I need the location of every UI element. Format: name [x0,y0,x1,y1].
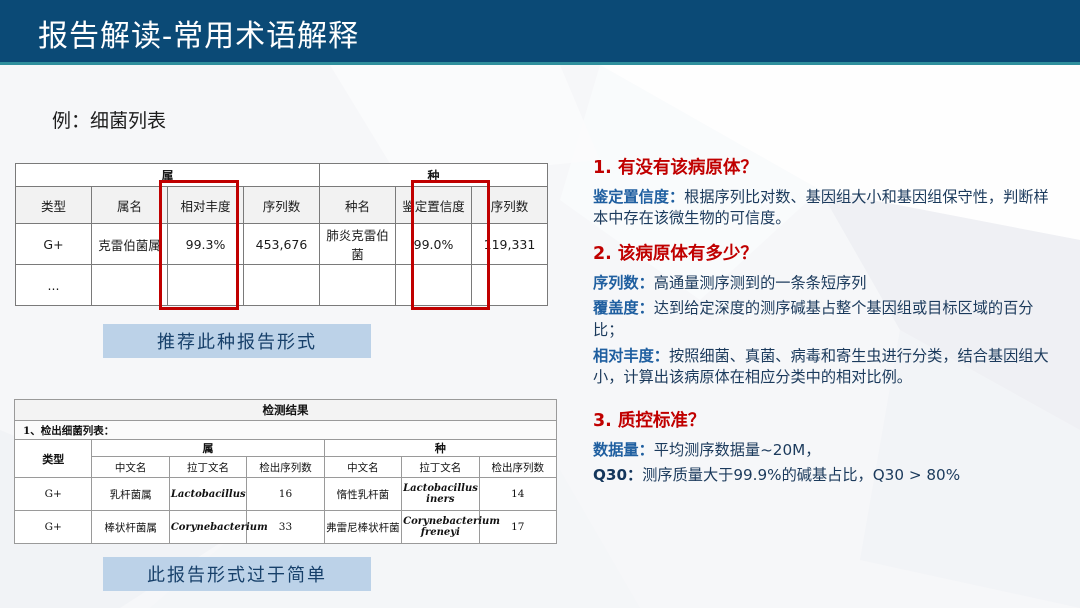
group-header-species: 种 [320,164,548,187]
col-header-genus-reads: 检出序列数 [247,457,324,478]
cell-type: G+ [15,478,92,511]
question-block-1: 1. 有没有该病原体？ 鉴定置信度：根据序列比对数、基因组大小和基因组保守性，判… [593,158,1063,230]
term-definition-confidence: 鉴定置信度：根据序列比对数、基因组大小和基因组保守性，判断样本中存在该微生物的可… [593,187,1063,230]
term-body: 测序质量大于99.9%的碱基占比，Q30 > 80% [642,466,960,484]
col-header-species-name: 种名 [320,187,396,224]
table-row: ... [16,265,548,306]
cell-species-cn: 弗雷尼棒状杆菌 [324,511,401,544]
term-definition-datavolume: 数据量：平均测序数据量~20M， [593,440,1063,462]
cell-reads-species: 119,331 [472,224,548,265]
report-table: 检测结果 1、检出细菌列表： 类型 属 种 中文名 拉丁文名 检出序列数 中文名… [14,399,557,544]
term-definition-reads: 序列数：高通量测序测到的一条条短序列 [593,273,1063,295]
term-label: 覆盖度： [593,299,654,317]
cell-genus-latin: Lactobacillus [169,478,246,511]
cell-type: G+ [15,511,92,544]
cell-genus-cn: 乳杆菌属 [92,478,169,511]
cell-reads-genus-empty [244,265,320,306]
cell-species-name-empty [320,265,396,306]
group-header-species: 种 [324,440,556,457]
report-table-container: 检测结果 1、检出细菌列表： 类型 属 种 中文名 拉丁文名 检出序列数 中文名… [14,399,557,544]
example-label: 例：细菌列表 [52,106,166,133]
table-row: G+ 棒状杆菌属 Corynebacterium 33 弗雷尼棒状杆菌 Cory… [15,511,557,544]
group-header-genus: 属 [16,164,320,187]
cell-species-cn: 惰性乳杆菌 [324,478,401,511]
col-header-reads-species: 序列数 [472,187,548,224]
title-accent-line [0,62,1080,65]
term-label: 序列数： [593,274,654,292]
cell-confidence-empty [396,265,472,306]
term-label: Q30： [593,466,642,484]
cell-abundance: 99.3% [168,224,244,265]
callout-too-simple: 此报告形式过于简单 [103,557,371,591]
question-block-3: 3. 质控标准？ 数据量：平均测序数据量~20M， Q30：测序质量大于99.9… [593,411,1063,487]
term-body: 达到给定深度的测序碱基占整个基因组或目标区域的百分比； [593,299,1033,339]
table-row-subtitle: 1、检出细菌列表： [15,421,557,440]
question-heading-3: 3. 质控标准？ [593,411,1063,433]
term-body: 平均测序数据量~20M， [654,441,821,459]
col-header-species-cn: 中文名 [324,457,401,478]
cell-species-latin: Lactobacillus iners [402,478,479,511]
example-table: 属 种 类型 属名 相对丰度 序列数 种名 鉴定置信度 序列数 G+ 克雷伯菌属… [15,163,548,306]
col-header-abundance: 相对丰度 [168,187,244,224]
table-row-groups: 属 种 [16,164,548,187]
cell-genus-latin: Corynebacterium [169,511,246,544]
table-row-header: 中文名 拉丁文名 检出序列数 中文名 拉丁文名 检出序列数 [15,457,557,478]
table-row: G+ 乳杆菌属 Lactobacillus 16 惰性乳杆菌 Lactobaci… [15,478,557,511]
report-table-title: 检测结果 [15,400,557,421]
cell-confidence: 99.0% [396,224,472,265]
table-row-header: 类型 属名 相对丰度 序列数 种名 鉴定置信度 序列数 [16,187,548,224]
term-definition-q30: Q30：测序质量大于99.9%的碱基占比，Q30 > 80% [593,465,1063,487]
question-block-2: 2. 该病原体有多少？ 序列数：高通量测序测到的一条条短序列 覆盖度：达到给定深… [593,244,1063,389]
cell-genus-cn: 棒状杆菌属 [92,511,169,544]
cell-abundance-empty [168,265,244,306]
term-label: 鉴定置信度： [593,188,684,206]
table-row: G+ 克雷伯菌属 99.3% 453,676 肺炎克雷伯菌 99.0% 119,… [16,224,548,265]
term-body: 高通量测序测到的一条条短序列 [654,274,867,292]
cell-species-reads: 14 [479,478,556,511]
col-header-type: 类型 [15,440,92,478]
table-row-groups: 类型 属 种 [15,440,557,457]
col-header-type: 类型 [16,187,92,224]
cell-type: G+ [16,224,92,265]
cell-genus-name: 克雷伯菌属 [92,224,168,265]
table-row-title: 检测结果 [15,400,557,421]
col-header-confidence: 鉴定置信度 [396,187,472,224]
question-heading-1: 1. 有没有该病原体？ [593,158,1063,180]
cell-genus-reads: 16 [247,478,324,511]
term-label: 数据量： [593,441,654,459]
col-header-genus-name: 属名 [92,187,168,224]
col-header-genus-latin: 拉丁文名 [169,457,246,478]
cell-species-name: 肺炎克雷伯菌 [320,224,396,265]
col-header-species-reads: 检出序列数 [479,457,556,478]
terminology-panel: 1. 有没有该病原体？ 鉴定置信度：根据序列比对数、基因组大小和基因组保守性，判… [593,158,1063,501]
example-table-container: 属 种 类型 属名 相对丰度 序列数 种名 鉴定置信度 序列数 G+ 克雷伯菌属… [15,163,548,306]
cell-reads-species-empty [472,265,548,306]
callout-recommend: 推荐此种报告形式 [103,324,371,358]
cell-type-ellipsis: ... [16,265,92,306]
cell-genus-name-empty [92,265,168,306]
cell-reads-genus: 453,676 [244,224,320,265]
col-header-genus-cn: 中文名 [92,457,169,478]
report-table-subtitle: 1、检出细菌列表： [15,421,557,440]
term-definition-abundance: 相对丰度：按照细菌、真菌、病毒和寄生虫进行分类，结合基因组大小，计算出该病原体在… [593,346,1063,389]
term-label: 相对丰度： [593,347,669,365]
group-header-genus: 属 [92,440,324,457]
cell-species-latin: Corynebacterium freneyi [402,511,479,544]
question-heading-2: 2. 该病原体有多少？ [593,244,1063,266]
col-header-reads-genus: 序列数 [244,187,320,224]
page-title: 报告解读-常用术语解释 [38,11,359,55]
col-header-species-latin: 拉丁文名 [402,457,479,478]
term-definition-coverage: 覆盖度：达到给定深度的测序碱基占整个基因组或目标区域的百分比； [593,298,1063,341]
